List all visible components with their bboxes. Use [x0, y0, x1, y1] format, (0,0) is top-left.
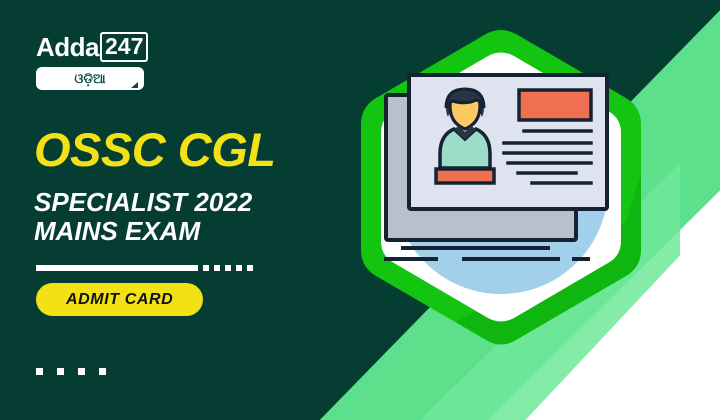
decorative-dot: [57, 368, 64, 375]
badge-corner-tab-icon: [131, 82, 138, 88]
decorative-dot: [36, 368, 43, 375]
brand-name-text: Adda: [36, 34, 99, 60]
decorative-dot: [99, 368, 106, 375]
divider-dot: [236, 265, 242, 271]
admit-card-button[interactable]: ADMIT CARD: [36, 283, 203, 316]
avatar-name-bar: [436, 169, 494, 183]
card-photo-block: [519, 90, 591, 120]
brand-language-badge: ଓଡ଼ିଆ: [36, 67, 144, 90]
poster-canvas: Adda 247 ଓଡ଼ିଆ OSSC CGL SPECIALIST 2022 …: [0, 0, 720, 420]
page-subtitle-line-2: MAINS EXAM: [34, 217, 334, 246]
decorative-dot: [78, 368, 85, 375]
admit-card-illustration: [336, 22, 666, 397]
divider-dot: [247, 265, 253, 271]
brand-language-label: ଓଡ଼ିଆ: [74, 72, 105, 85]
divider-dot: [225, 265, 231, 271]
divider-dot: [203, 265, 209, 271]
divider: [36, 265, 253, 271]
brand-logo[interactable]: Adda 247 ଓଡ଼ିଆ: [36, 32, 176, 90]
headline-block: OSSC CGL SPECIALIST 2022 MAINS EXAM: [34, 126, 334, 246]
page-subtitle-line-1: SPECIALIST 2022: [34, 188, 334, 217]
divider-bar: [36, 265, 198, 271]
brand-number-badge: 247: [100, 32, 148, 62]
id-card-front: [409, 75, 607, 209]
divider-dot: [214, 265, 220, 271]
page-title: OSSC CGL: [34, 126, 334, 174]
brand-logo-wordmark: Adda 247: [36, 32, 176, 62]
decorative-dot-row: [36, 368, 106, 375]
